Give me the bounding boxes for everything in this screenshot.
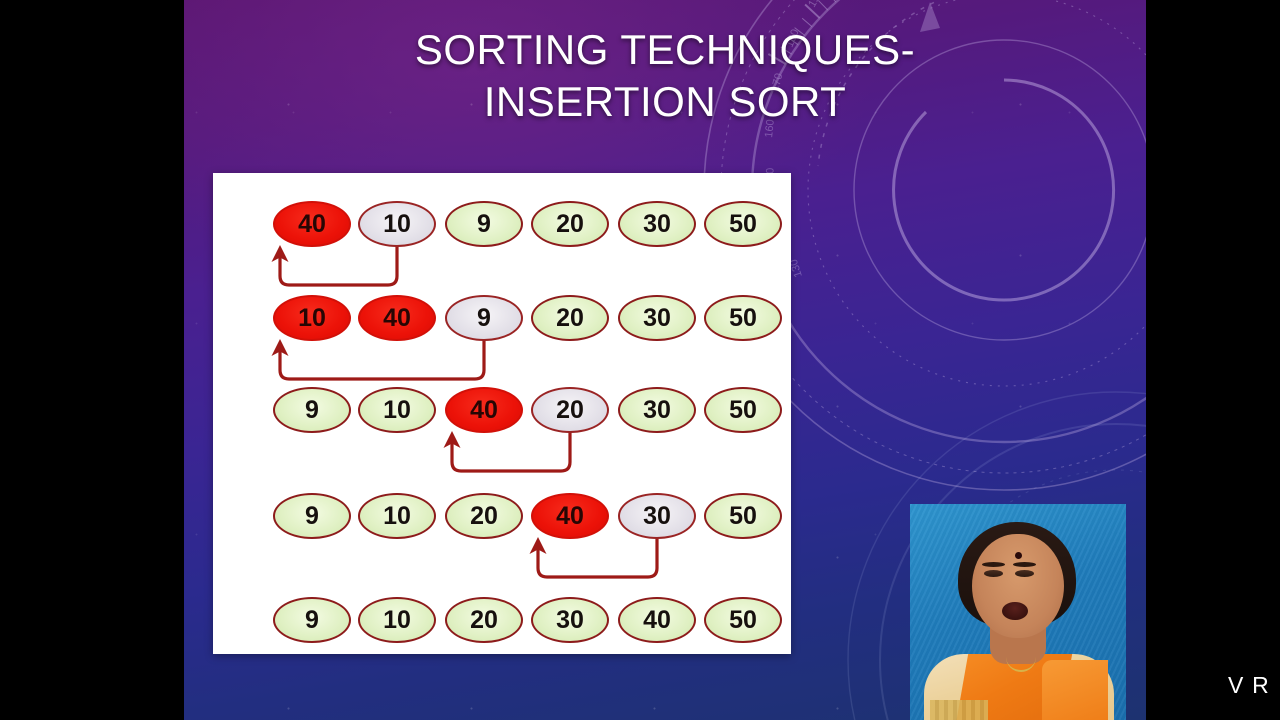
slide-title: SORTING TECHNIQUES- INSERTION SORT [184,24,1146,128]
sort-element-oval: 30 [531,597,609,643]
sort-element-oval: 20 [531,387,609,433]
sort-step-row: 91020304050 [213,597,791,653]
svg-text:190: 190 [806,0,826,10]
presenter-saree-border [930,700,988,720]
sort-element-oval: 20 [445,597,523,643]
sort-element-oval: 10 [358,597,436,643]
sort-element-oval: 20 [531,201,609,247]
slide-title-line-1: SORTING TECHNIQUES- [184,24,1146,76]
sort-element-oval: 50 [704,597,782,643]
sort-element-oval: 10 [358,387,436,433]
video-player-frame: 200 190 180 170 160 150 140 130 SORTING … [0,0,1280,720]
sort-element-oval: 40 [618,597,696,643]
presenter-saree-drape [1042,660,1108,720]
sort-element-oval: 40 [445,387,523,433]
presenter-webcam-overlay[interactable] [910,504,1126,720]
sort-element-oval: 40 [531,493,609,539]
presenter-eyebrow-right [1013,562,1036,567]
sort-step-row: 91040203050 [213,387,791,443]
sort-element-oval: 9 [273,387,351,433]
sort-step-row: 40109203050 [213,201,791,257]
sort-element-oval: 10 [358,493,436,539]
sort-element-oval: 50 [704,295,782,341]
sort-element-oval: 20 [445,493,523,539]
sort-element-oval: 30 [618,295,696,341]
sort-element-oval: 30 [618,493,696,539]
sort-element-oval: 40 [358,295,436,341]
presenter-face [972,534,1064,638]
sort-element-oval: 30 [618,201,696,247]
insertion-sort-diagram: 4010920305010409203050910402030509102040… [213,173,791,654]
slide-title-line-2: INSERTION SORT [184,76,1146,128]
sort-element-oval: 9 [273,597,351,643]
sort-step-row: 91020403050 [213,493,791,549]
sort-element-oval: 50 [704,201,782,247]
sort-element-oval: 9 [273,493,351,539]
presenter-bindi [1015,552,1022,559]
sort-element-oval: 30 [618,387,696,433]
sort-element-oval: 40 [273,201,351,247]
presenter-eye-right [1015,570,1034,577]
presenter-mouth [1002,602,1028,620]
presenter-eye-left [984,570,1003,577]
letterbox-bar-left [0,0,184,720]
sort-element-oval: 10 [273,295,351,341]
sort-step-row: 10409203050 [213,295,791,351]
sort-element-oval: 9 [445,201,523,247]
sort-element-oval: 9 [445,295,523,341]
watermark-text: V R [1228,672,1270,699]
sort-element-oval: 10 [358,201,436,247]
sort-element-oval: 50 [704,387,782,433]
presenter-eyebrow-left [982,562,1005,567]
diagram-panel: 4010920305010409203050910402030509102040… [213,173,791,654]
sort-element-oval: 50 [704,493,782,539]
letterbox-bar-right [1146,0,1280,720]
sort-element-oval: 20 [531,295,609,341]
